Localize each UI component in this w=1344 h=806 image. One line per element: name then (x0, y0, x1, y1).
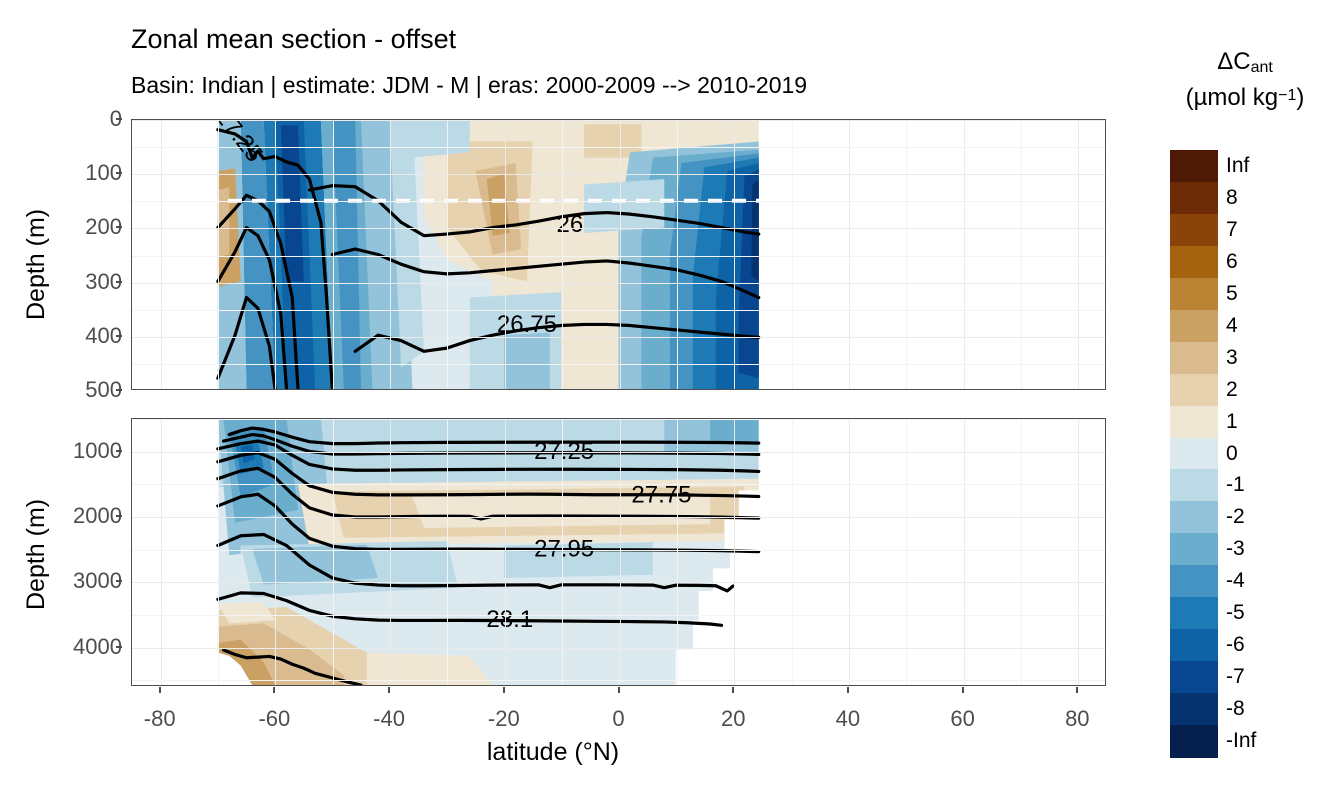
colorbar-swatch (1170, 693, 1218, 726)
x-tick-mark (847, 687, 849, 693)
page-subtitle: Basin: Indian | estimate: JDM - M | eras… (131, 72, 807, 99)
grid-line-vertical (505, 419, 506, 685)
colorbar-swatch (1170, 565, 1218, 598)
colorbar-tick-label: 1 (1226, 410, 1238, 434)
grid-line-horizontal-minor (132, 256, 1105, 257)
grid-line-horizontal-minor (132, 147, 1105, 148)
grid-line-vertical (447, 419, 448, 685)
x-tick-label: 80 (1065, 706, 1089, 732)
grid-line-vertical (333, 419, 334, 685)
colorbar-tick-label: -4 (1226, 569, 1245, 593)
y-axis-ticks-bottom: 1000200030004000 (36, 418, 122, 686)
x-tick-mark (503, 687, 505, 693)
grid-line-horizontal (132, 582, 1105, 583)
y-tick-label: 2000 (73, 503, 122, 529)
y-tick-mark (116, 389, 122, 391)
colorbar-swatch (1170, 214, 1218, 247)
grid-line-horizontal (132, 337, 1105, 338)
colorbar-swatch (1170, 501, 1218, 534)
x-tick-mark (388, 687, 390, 693)
x-tick-label: 40 (836, 706, 860, 732)
grid-line-vertical (906, 419, 907, 685)
grid-line-vertical (562, 419, 563, 685)
grid-line-vertical (333, 120, 334, 389)
y-tick-label: 1000 (73, 438, 122, 464)
grid-line-vertical (161, 120, 162, 389)
grid-line-vertical (218, 120, 219, 389)
colorbar-tick-label: -8 (1226, 697, 1245, 721)
colorbar-swatch (1170, 469, 1218, 502)
colorbar-tick-label: 6 (1226, 250, 1238, 274)
colorbar-tick-label: -7 (1226, 665, 1245, 689)
colorbar-tick-label: -5 (1226, 601, 1245, 625)
colorbar-tick-label: 8 (1226, 186, 1238, 210)
grid-line-vertical (275, 120, 276, 389)
contour-label: 28.1 (486, 606, 533, 633)
legend-units-close: ) (1296, 84, 1304, 111)
grid-line-horizontal-minor (132, 364, 1105, 365)
grid-line-vertical (964, 120, 965, 389)
legend-units-exponent: −1 (1278, 87, 1296, 104)
grid-line-horizontal-minor (132, 550, 1105, 551)
y-tick-mark (116, 281, 122, 283)
legend-delta-c: ΔC (1217, 48, 1250, 75)
grid-line-horizontal (132, 228, 1105, 229)
x-tick-label: 60 (950, 706, 974, 732)
grid-line-horizontal (132, 517, 1105, 518)
grid-line-vertical (1078, 120, 1079, 389)
x-tick-label: 0 (612, 706, 624, 732)
y-tick-mark (116, 450, 122, 452)
grid-line-horizontal (132, 174, 1105, 175)
colorbar-swatch (1170, 438, 1218, 471)
legend: ΔCant (µmol kg−1) Inf876543210-1-2-3-4-5… (1150, 48, 1340, 768)
colorbar-tick-label: -2 (1226, 505, 1245, 529)
grid-line-horizontal-minor (132, 680, 1105, 681)
grid-line-vertical (161, 419, 162, 685)
x-tick-label: -60 (258, 706, 290, 732)
legend-title-line2: (µmol kg−1) (1150, 84, 1340, 112)
colorbar-swatch (1170, 533, 1218, 566)
x-tick-label: 20 (721, 706, 745, 732)
colorbar-tick-label: 4 (1226, 314, 1238, 338)
colorbar-swatch (1170, 150, 1218, 183)
x-tick-label: -20 (488, 706, 520, 732)
y-tick-mark (116, 172, 122, 174)
colorbar-tick-label: Inf (1226, 154, 1249, 178)
x-tick-mark (962, 687, 964, 693)
grid-line-vertical (792, 120, 793, 389)
colorbar-swatch (1170, 406, 1218, 439)
grid-line-vertical (734, 419, 735, 685)
contour-label: 26 (556, 211, 583, 238)
contour-label: 27.75 (631, 482, 691, 509)
colorbar-swatch (1170, 182, 1218, 215)
y-tick-mark (116, 335, 122, 337)
colorbar-tick-label: -Inf (1226, 729, 1256, 753)
grid-line-vertical (677, 419, 678, 685)
grid-line-horizontal-minor (132, 484, 1105, 485)
y-tick-mark (116, 515, 122, 517)
legend-subscript-ant: ant (1251, 59, 1273, 76)
y-tick-label: 4000 (73, 634, 122, 660)
deep-section-plot: 27.2527.7527.9528.1 (132, 419, 1105, 685)
colorbar-swatch (1170, 246, 1218, 279)
grid-line-vertical (620, 120, 621, 389)
colorbar-tick-label: 5 (1226, 282, 1238, 306)
colorbar-tick-label: -6 (1226, 633, 1245, 657)
grid-line-vertical (1078, 419, 1079, 685)
colorbar-swatch (1170, 278, 1218, 311)
colorbar-swatch (1170, 629, 1218, 662)
grid-line-horizontal-minor (132, 615, 1105, 616)
grid-line-horizontal (132, 452, 1105, 453)
grid-line-vertical (390, 419, 391, 685)
shallow-section-plot: 27.252626.75 (132, 120, 1105, 389)
colorbar-tick-label: 7 (1226, 218, 1238, 242)
grid-line-vertical (1021, 419, 1022, 685)
grid-line-horizontal-minor (132, 201, 1105, 202)
grid-line-vertical (677, 120, 678, 389)
x-tick-mark (732, 687, 734, 693)
grid-line-vertical (964, 419, 965, 685)
page-title: Zonal mean section - offset (131, 24, 456, 55)
x-tick-mark (618, 687, 620, 693)
grid-line-vertical (734, 120, 735, 389)
contour-label: 26.75 (497, 311, 557, 338)
grid-line-vertical (562, 120, 563, 389)
grid-line-vertical (218, 419, 219, 685)
colorbar-swatch (1170, 661, 1218, 694)
plot-panel-deep: 27.2527.7527.9528.1 (131, 418, 1106, 686)
grid-line-horizontal (132, 120, 1105, 121)
grid-line-vertical (447, 120, 448, 389)
grid-line-vertical (849, 120, 850, 389)
grid-line-vertical (792, 419, 793, 685)
y-tick-label: 3000 (73, 568, 122, 594)
colorbar: Inf876543210-1-2-3-4-5-6-7-8-Inf (1170, 150, 1218, 757)
grid-line-vertical (1021, 120, 1022, 389)
colorbar-swatch (1170, 597, 1218, 630)
y-tick-mark (116, 646, 122, 648)
colorbar-tick-label: 3 (1226, 346, 1238, 370)
grid-line-vertical (390, 120, 391, 389)
legend-title-line1: ΔCant (1150, 48, 1340, 77)
grid-line-horizontal-minor (132, 419, 1105, 420)
x-tick-mark (273, 687, 275, 693)
grid-line-vertical (275, 419, 276, 685)
grid-line-vertical (620, 419, 621, 685)
colorbar-tick-label: -1 (1226, 473, 1245, 497)
colorbar-tick-label: -3 (1226, 537, 1245, 561)
x-tick-mark (159, 687, 161, 693)
colorbar-tick-label: 2 (1226, 378, 1238, 402)
x-axis-title: latitude (°N) (0, 738, 1106, 767)
x-tick-label: -80 (144, 706, 176, 732)
grid-line-vertical (505, 120, 506, 389)
plot-panel-shallow: 27.252626.75 (131, 119, 1106, 390)
colorbar-swatch (1170, 374, 1218, 407)
legend-units-open: (µmol kg (1186, 84, 1279, 111)
x-tick-label: -40 (373, 706, 405, 732)
grid-line-horizontal (132, 283, 1105, 284)
colorbar-tick-label: 0 (1226, 442, 1238, 466)
colorbar-swatch (1170, 342, 1218, 375)
colorbar-swatch (1170, 310, 1218, 343)
y-tick-mark (116, 118, 122, 120)
grid-line-horizontal (132, 648, 1105, 649)
grid-line-vertical (849, 419, 850, 685)
y-axis-ticks-top: 0100200300400500 (36, 119, 122, 390)
y-tick-mark (116, 580, 122, 582)
grid-line-horizontal-minor (132, 310, 1105, 311)
x-tick-mark (1076, 687, 1078, 693)
y-tick-mark (116, 226, 122, 228)
colorbar-swatch (1170, 725, 1218, 758)
grid-line-vertical (906, 120, 907, 389)
